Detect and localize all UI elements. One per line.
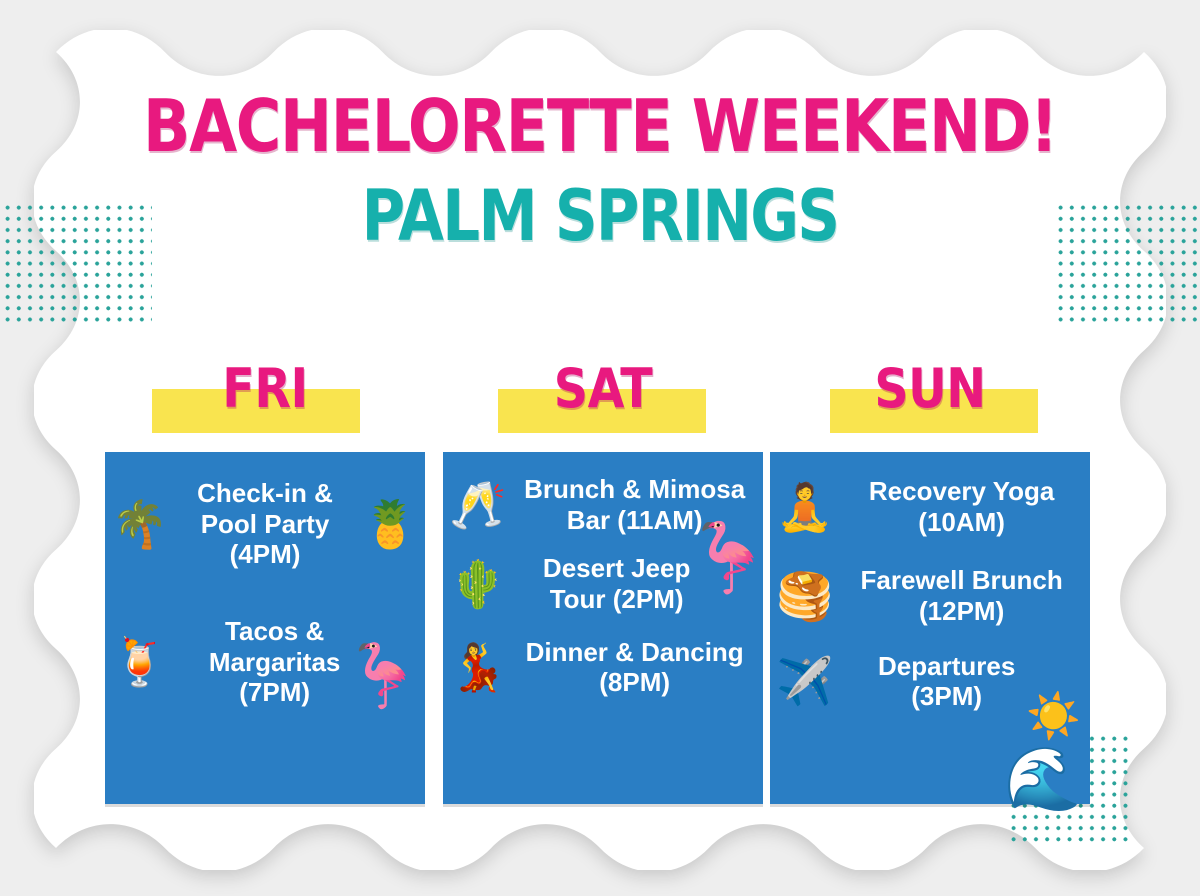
day-header-sun: SUN (770, 362, 1090, 450)
event-item[interactable]: 🥂 Brunch & Mimosa Bar (11AM) (449, 474, 757, 535)
day-label-sat: SAT (462, 362, 744, 416)
event-list-sat: 🥂 Brunch & Mimosa Bar (11AM) 🌵 Desert Je… (443, 452, 763, 804)
tropical-drink-icon: 🍹 (111, 639, 168, 685)
event-label: Brunch & Mimosa Bar (11AM) (512, 474, 757, 535)
event-item[interactable]: ✈️ Departures (3PM) (776, 651, 1084, 712)
airplane-icon: ✈️ (776, 658, 833, 704)
event-item[interactable]: 🧘 Recovery Yoga (10AM) (776, 476, 1084, 537)
dancer-icon: 💃 (449, 644, 506, 690)
cactus-icon: 🌵 (449, 561, 506, 607)
day-column-sat: SAT 🥂 Brunch & Mimosa Bar (11AM) 🌵 Deser… (443, 362, 763, 450)
title-block: BACHELORETTE WEEKEND! PALM SPRINGS (0, 92, 1200, 251)
page-title: BACHELORETTE WEEKEND! (84, 92, 1116, 163)
event-label: Recovery Yoga (10AM) (839, 476, 1084, 537)
event-item[interactable]: 🍹 Tacos & Margaritas (7PM) (111, 616, 419, 708)
event-item[interactable]: 💃 Dinner & Dancing (8PM) (449, 637, 757, 698)
event-label: Tacos & Margaritas (7PM) (174, 616, 419, 708)
event-item[interactable]: 🥞 Farewell Brunch (12PM) (776, 565, 1084, 626)
yoga-icon: 🧘 (776, 484, 833, 530)
schedule-card-fri: 🌴 Check-in & Pool Party (4PM) 🍍 🍹 Tacos … (105, 452, 425, 804)
pineapple-icon: 🍍 (362, 501, 419, 547)
day-column-sun: SUN 🧘 Recovery Yoga (10AM) 🥞 Farewell Br… (770, 362, 1090, 450)
event-item[interactable]: 🌴 Check-in & Pool Party (4PM) 🍍 (111, 478, 419, 570)
palm-tree-icon: 🌴 (111, 501, 168, 547)
schedule-card-sun: 🧘 Recovery Yoga (10AM) 🥞 Farewell Brunch… (770, 452, 1090, 804)
day-header-fri: FRI (105, 362, 425, 450)
event-label: Departures (3PM) (839, 651, 1084, 712)
day-column-fri: FRI 🌴 Check-in & Pool Party (4PM) 🍍 🍹 Ta… (105, 362, 425, 450)
day-label-sun: SUN (789, 362, 1071, 416)
event-label: Dinner & Dancing (8PM) (512, 637, 757, 698)
pancakes-icon: 🥞 (776, 573, 833, 619)
clinking-glasses-icon: 🥂 (449, 482, 506, 528)
event-item[interactable]: 🌵 Desert Jeep Tour (2PM) (449, 553, 757, 614)
schedule-card-sat: 🥂 Brunch & Mimosa Bar (11AM) 🌵 Desert Je… (443, 452, 763, 804)
event-list-fri: 🌴 Check-in & Pool Party (4PM) 🍍 🍹 Tacos … (105, 452, 425, 804)
event-list-sun: 🧘 Recovery Yoga (10AM) 🥞 Farewell Brunch… (770, 452, 1090, 804)
event-label: Farewell Brunch (12PM) (839, 565, 1084, 626)
event-label: Check-in & Pool Party (4PM) (174, 478, 355, 570)
day-label-fri: FRI (124, 362, 406, 416)
event-label: Desert Jeep Tour (2PM) (512, 553, 757, 614)
page-subtitle: PALM SPRINGS (96, 181, 1104, 252)
day-header-sat: SAT (443, 362, 763, 450)
